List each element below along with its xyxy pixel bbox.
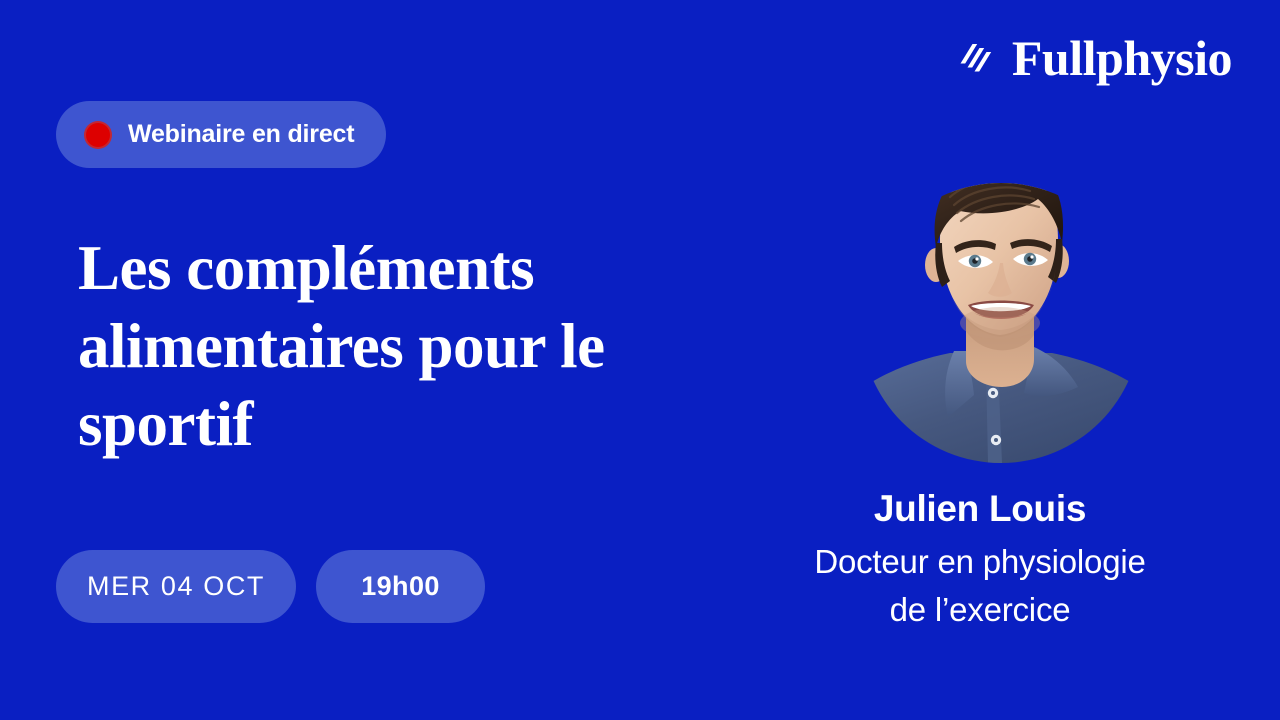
webinar-promo-banner: Fullphysio Webinaire en direct Les compl…	[0, 0, 1280, 720]
time-pill: 19h00	[316, 550, 485, 623]
speaker-role-line-1: Docteur en physiologie	[814, 543, 1145, 580]
live-dot-icon	[86, 123, 110, 147]
speaker-info: Julien Louis Docteur en physiologie de l…	[730, 486, 1230, 634]
speaker-portrait	[862, 155, 1140, 463]
speaker-portrait-clip	[862, 155, 1140, 463]
webinar-title: Les compléments alimentaires pour le spo…	[78, 229, 718, 463]
live-badge-label: Webinaire en direct	[128, 120, 354, 149]
date-pill: MER 04 OCT	[56, 550, 296, 623]
brand-name: Fullphysio	[1012, 33, 1232, 83]
brand-logo: Fullphysio	[952, 33, 1232, 83]
schedule-pills: MER 04 OCT 19h00	[56, 550, 485, 623]
three-slashes-icon	[952, 36, 998, 80]
speaker-name: Julien Louis	[730, 486, 1230, 532]
webinar-title-line-2: alimentaires pour le	[78, 307, 718, 385]
webinar-title-line-3: sportif	[78, 385, 718, 463]
webinar-title-line-1: Les compléments	[78, 229, 718, 307]
speaker-role-line-2: de l’exercice	[890, 591, 1071, 628]
speaker-role: Docteur en physiologie de l’exercice	[730, 538, 1230, 634]
live-webinar-badge: Webinaire en direct	[56, 101, 386, 168]
